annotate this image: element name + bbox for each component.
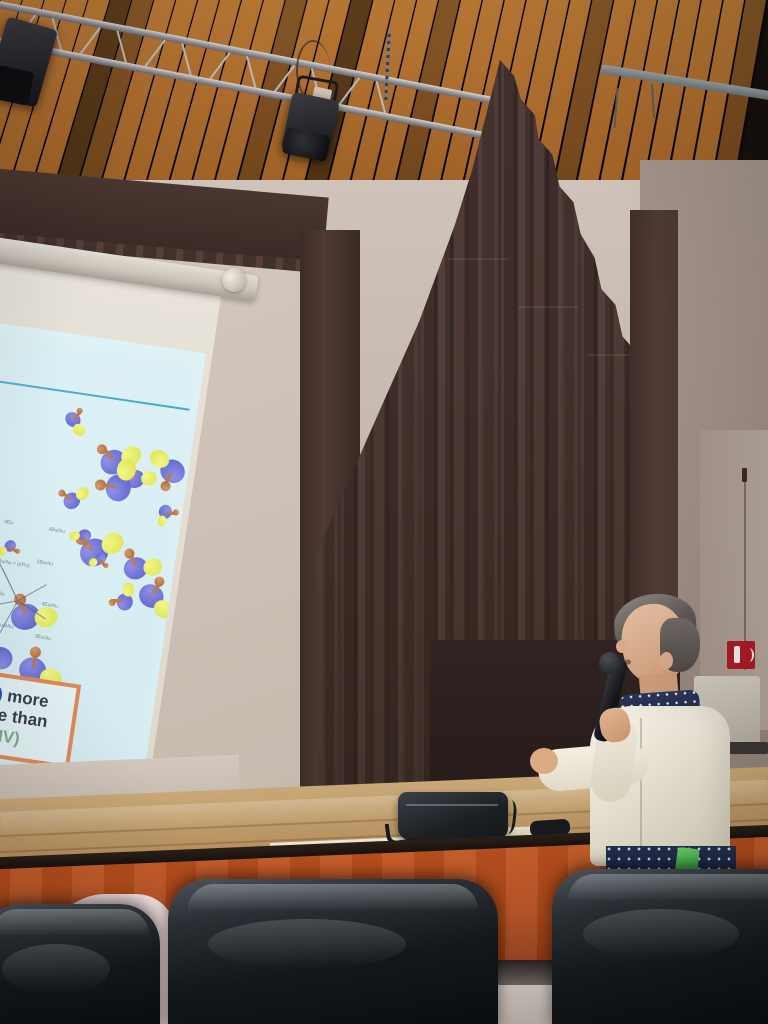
molecular-orbital — [56, 406, 99, 449]
orbital-lobe-negative — [122, 582, 135, 596]
ear — [660, 652, 673, 669]
correlation-network — [0, 495, 109, 690]
curtain-seam — [448, 258, 508, 260]
left-hand — [530, 748, 558, 774]
nose — [616, 640, 628, 653]
audience-chair — [168, 879, 498, 1024]
molecular-orbital — [95, 441, 154, 507]
projection-screen-end-cap — [222, 268, 246, 292]
curtain-seam — [518, 306, 578, 308]
presenter — [548, 596, 748, 866]
cardigan-button-placket — [640, 718, 642, 858]
bag-zipper — [406, 804, 498, 806]
audience-chair — [552, 869, 768, 1024]
orbital-lobe-negative — [157, 515, 168, 527]
molecular-orbital — [111, 574, 142, 611]
molecular-orbital — [149, 503, 177, 535]
atom-node — [109, 599, 116, 606]
audience-chair — [0, 904, 160, 1024]
atom-node — [172, 509, 179, 516]
molecular-orbital — [56, 473, 102, 519]
photo-scene: s 3Eu2Eu/Bu2Au4Eu4Bu/Au4Bu/Au2Eu/Au3Bu/A… — [0, 0, 768, 1024]
wall-notch — [742, 468, 747, 482]
